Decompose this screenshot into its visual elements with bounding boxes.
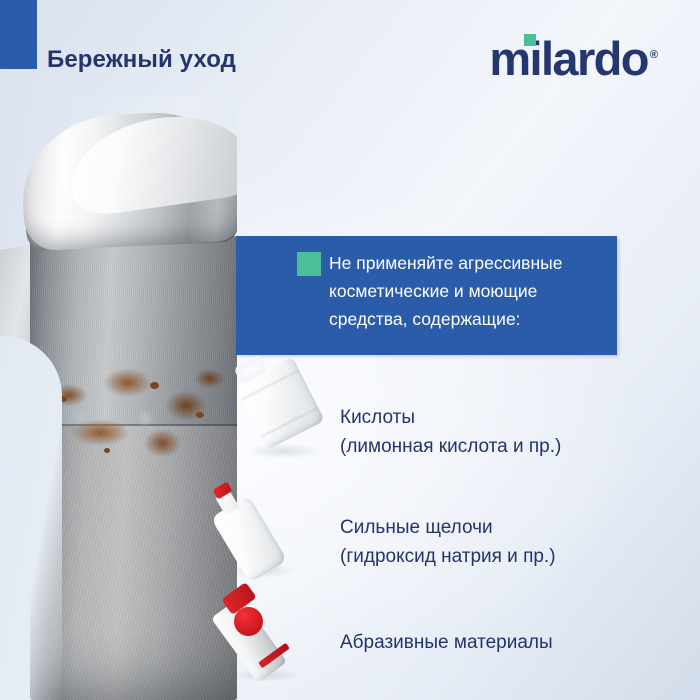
logo-wordmark-wrap: milardo® — [489, 37, 658, 80]
photo-left-fade — [0, 336, 62, 700]
logo-wordmark: milardo — [489, 32, 648, 85]
logo-dot-icon — [524, 34, 536, 46]
registered-trademark-icon: ® — [650, 49, 658, 61]
list-item: Кислоты (лимонная кислота и пр.) — [240, 363, 336, 463]
cleaner-bottle-icon — [221, 487, 317, 587]
warning-callout: Не применяйте агрессивные косметические … — [236, 236, 617, 355]
jerry-can-bottle-icon — [240, 363, 336, 463]
page-title: Бережный уход — [47, 46, 236, 74]
item-label: Кислоты (лимонная кислота и пр.) — [340, 403, 561, 461]
faucet-spout-highlight — [64, 106, 237, 218]
item-label-line2: (гидроксид натрия и пр.) — [340, 542, 556, 571]
rust-speck — [104, 448, 110, 453]
rust-speck — [196, 412, 204, 418]
slide-root: Бережный уход milardo® Не применяйте агр… — [0, 0, 700, 700]
header-accent-block — [0, 0, 37, 69]
list-item: Абразивные материалы — [223, 588, 319, 688]
rust-speck — [150, 382, 159, 389]
item-label-line1: Сильные щелочи — [340, 517, 493, 538]
item-label: Абразивные материалы — [340, 628, 553, 657]
abrasive-tube-icon — [223, 588, 319, 688]
faucet-photo — [0, 96, 237, 700]
tube-label-dot — [234, 607, 263, 636]
item-label-line2: (лимонная кислота и пр.) — [340, 432, 561, 461]
item-label-line1: Абразивные материалы — [340, 632, 553, 653]
list-item: Сильные щелочи (гидроксид натрия и пр.) — [221, 487, 317, 587]
callout-bullet-icon — [297, 252, 321, 276]
callout-text: Не применяйте агрессивные косметические … — [329, 249, 601, 333]
brand-logo: milardo® — [489, 32, 658, 80]
item-label-line1: Кислоты — [340, 407, 415, 428]
item-label: Сильные щелочи (гидроксид натрия и пр.) — [340, 513, 556, 571]
icon-shadow — [246, 443, 322, 459]
